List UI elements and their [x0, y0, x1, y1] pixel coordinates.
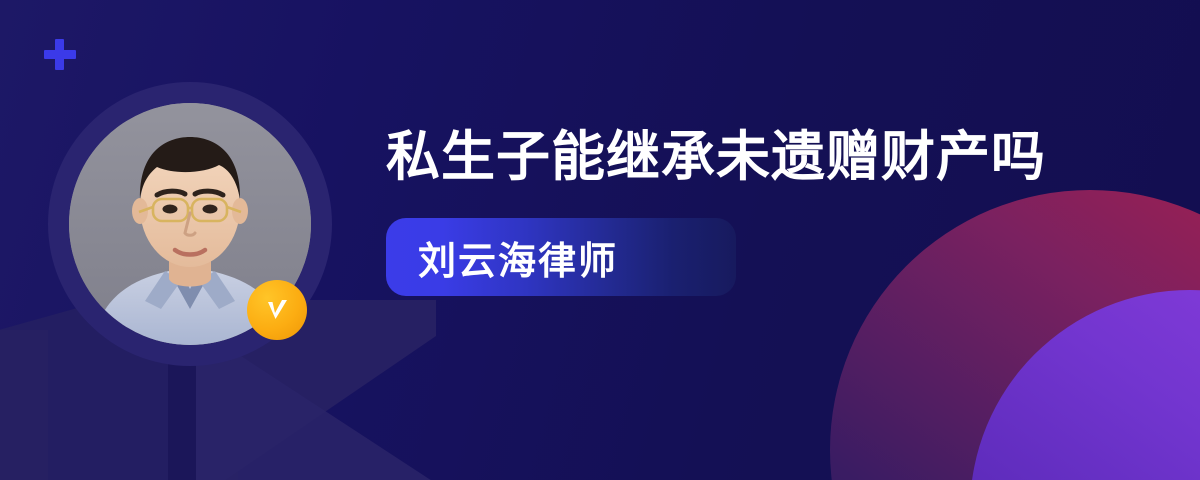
- banner-content: 私生子能继承未遗赠财产吗 刘云海律师: [386, 118, 1126, 296]
- page-title: 私生子能继承未遗赠财产吗: [386, 118, 1126, 196]
- decorative-bar-left: [0, 330, 48, 480]
- lawyer-name-button[interactable]: 刘云海律师: [386, 218, 736, 296]
- verified-check-icon: [247, 280, 307, 340]
- plus-icon-vertical-bar: [55, 39, 64, 70]
- avatar[interactable]: [48, 82, 332, 366]
- plus-icon: [40, 34, 80, 74]
- legal-qa-banner: 私生子能继承未遗赠财产吗 刘云海律师: [0, 0, 1200, 480]
